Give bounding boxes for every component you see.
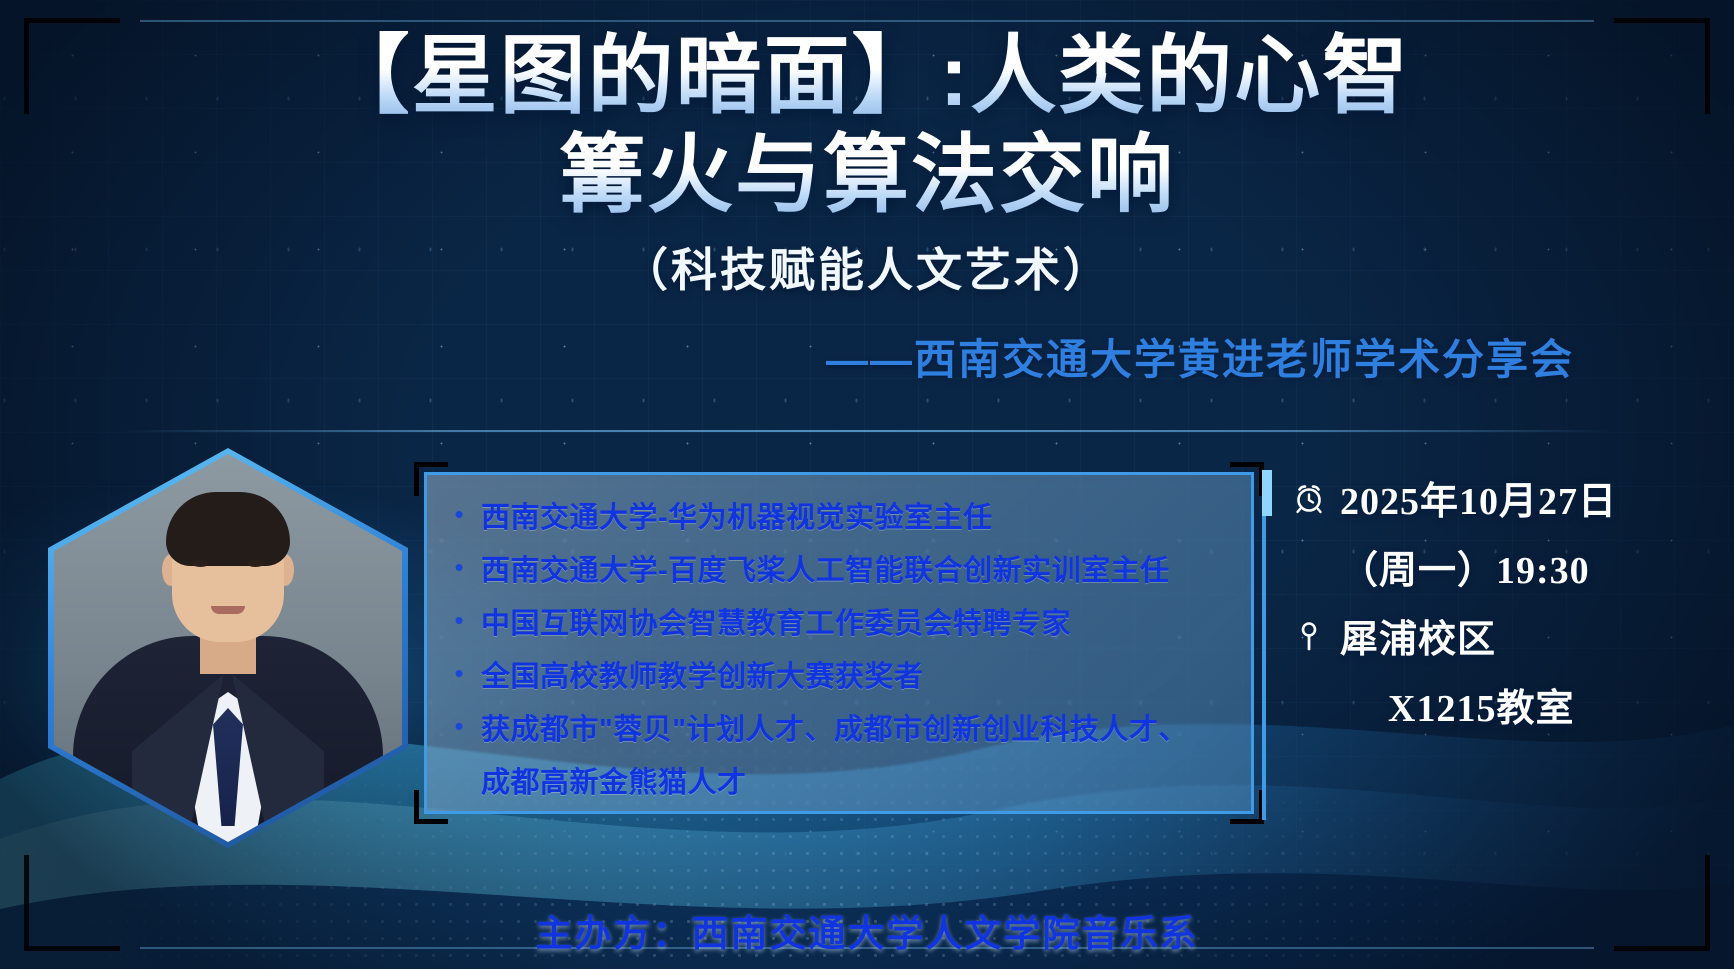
bullet-icon: • <box>453 603 465 637</box>
list-item: 成都高新金熊猫人才 <box>453 762 1233 804</box>
credential-text: 西南交通大学-华为机器视觉实验室主任 <box>481 497 993 539</box>
bullet-icon: • <box>453 656 465 690</box>
event-info-column: 2025年10月27日 （周一）19:30 犀浦校区 X1215教室 <box>1262 470 1710 820</box>
credential-text: 获成都市"蓉贝"计划人才、成都市创新创业科技人才、 <box>481 709 1188 751</box>
bullet-icon: • <box>453 497 465 531</box>
title-divider <box>120 430 1614 432</box>
credentials-list: • 西南交通大学-华为机器视觉实验室主任 • 西南交通大学-百度飞桨人工智能联合… <box>427 475 1251 804</box>
credential-text: 全国高校教师教学创新大赛获奖者 <box>481 656 924 698</box>
panel-bracket-bottom-right <box>1230 790 1264 824</box>
poster-subtitle: （科技赋能人文艺术） <box>0 234 1734 300</box>
event-date: 2025年10月27日 <box>1340 470 1617 525</box>
event-poster: 【星图的暗面】:人类的心智 篝火与算法交响 （科技赋能人文艺术） ——西南交通大… <box>0 0 1734 969</box>
list-item: • 全国高校教师教学创新大赛获奖者 <box>453 656 1233 698</box>
list-item: • 西南交通大学-百度飞桨人工智能联合创新实训室主任 <box>453 550 1233 592</box>
footer: 主办方：西南交通大学人文学院音乐系 <box>0 903 1734 957</box>
portrait-photo <box>54 454 402 842</box>
credential-text: 西南交通大学-百度飞桨人工智能联合创新实训室主任 <box>481 550 1170 592</box>
panel-bracket-bottom-left <box>414 790 448 824</box>
event-room: X1215教室 <box>1388 677 1574 732</box>
speaker-portrait <box>48 448 408 848</box>
panel-bracket-top-right <box>1230 462 1264 496</box>
edge-line-top <box>140 20 1594 22</box>
organizer-text: 主办方：西南交通大学人文学院音乐系 <box>0 903 1734 957</box>
event-campus-row: 犀浦校区 <box>1292 608 1710 663</box>
event-weekday-time: （周一）19:30 <box>1340 539 1590 594</box>
list-item: • 中国互联网协会智慧教育工作委员会特聘专家 <box>453 603 1233 645</box>
info-column-tick <box>1262 470 1272 516</box>
alarm-clock-icon <box>1292 481 1326 515</box>
title-block: 【星图的暗面】:人类的心智 篝火与算法交响 （科技赋能人文艺术） ——西南交通大… <box>0 30 1734 387</box>
credential-text-continued: 成都高新金熊猫人才 <box>481 762 747 804</box>
credential-text: 中国互联网协会智慧教育工作委员会特聘专家 <box>481 603 1071 645</box>
poster-title-line-1: 【星图的暗面】:人类的心智 <box>0 30 1734 123</box>
location-pin-icon <box>1292 619 1326 653</box>
panel-bracket-top-left <box>414 462 448 496</box>
bullet-icon: • <box>453 709 465 743</box>
credentials-panel: • 西南交通大学-华为机器视觉实验室主任 • 西南交通大学-百度飞桨人工智能联合… <box>424 472 1254 814</box>
poster-title-line-2: 篝火与算法交响 <box>0 129 1734 222</box>
poster-byline: ——西南交通大学黄进老师学术分享会 <box>0 326 1734 387</box>
event-date-row: 2025年10月27日 <box>1292 470 1710 525</box>
event-room-row: X1215教室 <box>1292 677 1710 732</box>
event-campus: 犀浦校区 <box>1340 608 1496 663</box>
list-item: • 获成都市"蓉贝"计划人才、成都市创新创业科技人才、 <box>453 709 1233 751</box>
bullet-icon: • <box>453 550 465 584</box>
event-time-row: （周一）19:30 <box>1292 539 1710 594</box>
list-item: • 西南交通大学-华为机器视觉实验室主任 <box>453 497 1233 539</box>
